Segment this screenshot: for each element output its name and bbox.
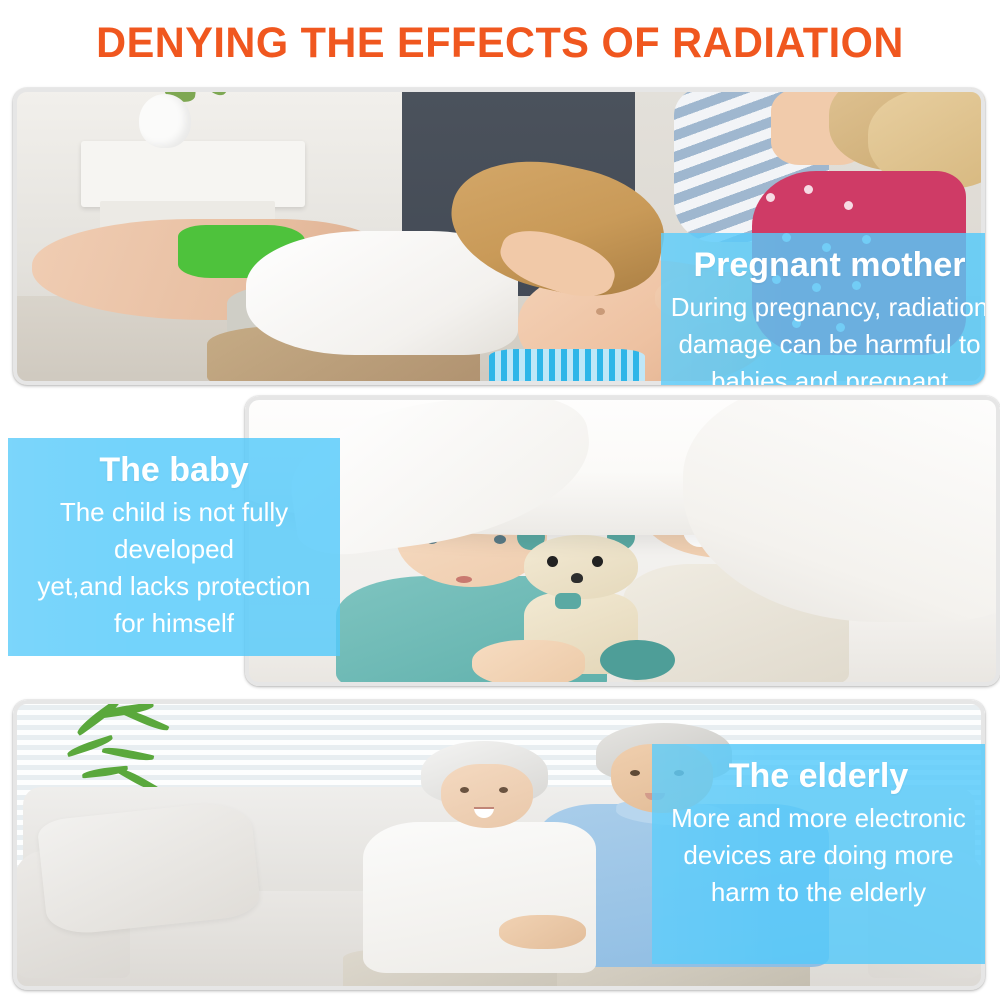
scene-blue-patterned-fabric	[489, 349, 645, 385]
scene-sofa-cushion	[37, 799, 262, 937]
scene-toddler-hand	[472, 640, 585, 686]
caption-line: More and more electronic	[660, 800, 977, 837]
scene-side-table	[81, 141, 305, 206]
panel-the-elderly: The elderly More and more electronic dev…	[13, 700, 985, 990]
scene-woman-eye-right	[499, 787, 508, 793]
scene-teddy-bow	[555, 593, 581, 609]
page-title: DENYING THE EFFECTS OF RADIATION	[18, 18, 983, 68]
scene-teddy-head	[524, 535, 637, 599]
caption-line: harm to the elderly	[660, 874, 977, 911]
caption-line: for himself	[16, 605, 332, 642]
caption-title-pregnant: Pregnant mother	[669, 243, 985, 287]
caption-line: devices are doing more	[660, 837, 977, 874]
scene-navel	[596, 308, 605, 315]
caption-body-elderly: More and more electronic devices are doi…	[660, 800, 977, 911]
caption-the-elderly: The elderly More and more electronic dev…	[652, 744, 985, 964]
scene-toddler-mouth	[456, 576, 472, 583]
photo-the-baby	[245, 396, 1000, 686]
caption-line: babies and pregnant women	[669, 363, 985, 385]
caption-title-baby: The baby	[16, 448, 332, 492]
scene-vase	[139, 94, 191, 148]
scene-woman-face	[441, 764, 533, 828]
scene-woman-white-shirt	[363, 822, 596, 973]
scene-teddy-foot	[600, 640, 676, 681]
caption-body-pregnant: During pregnancy, radiation damage can b…	[669, 289, 985, 385]
panel-pregnant-mother: Pregnant mother During pregnancy, radiat…	[13, 88, 985, 385]
panel-the-baby	[245, 396, 1000, 686]
scene-held-hands	[499, 915, 586, 950]
caption-pregnant-mother: Pregnant mother During pregnancy, radiat…	[661, 233, 985, 385]
scene-teddy-eye-left	[547, 556, 558, 567]
caption-the-baby: The baby The child is not fully develope…	[8, 438, 340, 656]
scene-teddy-nose	[571, 573, 583, 583]
caption-title-elderly: The elderly	[660, 754, 977, 798]
caption-line: During pregnancy, radiation	[669, 289, 985, 326]
caption-line: The child is not fully developed	[16, 494, 332, 568]
scene-man-eye-left	[630, 770, 640, 776]
caption-line: yet,and lacks protection	[16, 568, 332, 605]
caption-line: damage can be harmful to	[669, 326, 985, 363]
scene-teddy-eye-right	[592, 556, 603, 567]
caption-body-baby: The child is not fully developed yet,and…	[16, 494, 332, 642]
